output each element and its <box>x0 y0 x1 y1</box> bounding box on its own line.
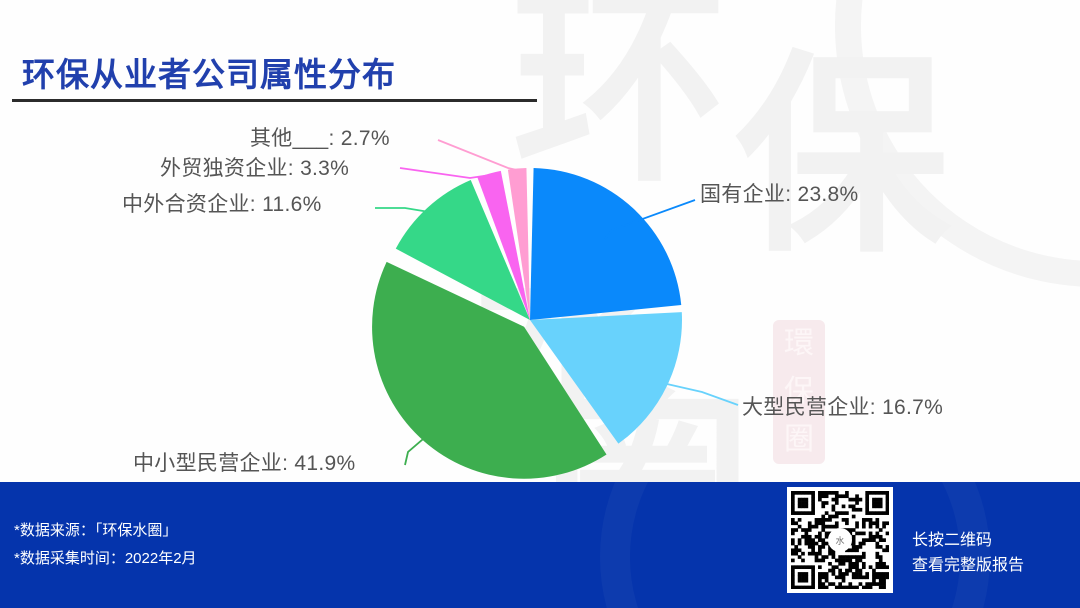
pie-label-foreign-funded: 外贸独资企业: 3.3% <box>160 152 349 182</box>
pie-slice-group[interactable] <box>372 168 682 479</box>
qr-code[interactable]: 水 <box>787 487 893 593</box>
title-underline-rule <box>12 99 537 102</box>
pie-slice[interactable] <box>530 168 681 320</box>
page-title: 环保从业者公司属性分布 <box>22 48 396 96</box>
pie-label-joint-venture: 中外合资企业: 11.6% <box>122 188 322 218</box>
qr-caption: 长按二维码 查看完整版报告 <box>912 528 1024 578</box>
pie-label-large-private: 大型民营企业: 16.7% <box>742 391 943 421</box>
footer-note-time: *数据采集时间：2022年2月 <box>14 545 197 573</box>
footer-notes: *数据来源：「环保水圈」 *数据采集时间：2022年2月 <box>14 517 197 573</box>
qr-caption-line-1: 长按二维码 <box>912 528 1024 553</box>
pie-leader-line <box>438 140 517 170</box>
pie-label-other: 其他___: 2.7% <box>250 122 390 152</box>
pie-label-sme-private: 中小型民营企业: 41.9% <box>133 447 355 477</box>
page-title-text: 环保从业者公司属性分布 <box>22 48 396 96</box>
pie-leader-line <box>400 168 489 178</box>
pie-leader-line <box>659 382 738 405</box>
footer-note-source: *数据来源：「环保水圈」 <box>14 517 197 545</box>
pie-label-state-owned: 国有企业: 23.8% <box>700 178 859 208</box>
qr-code-center-logo: 水 <box>828 528 852 552</box>
slide-canvas: 环 保 水 圈 環 保 圈 环保从业者公司属性分布 其他___: 2.7% 外贸… <box>0 0 1080 608</box>
qr-caption-line-2: 查看完整版报告 <box>912 553 1024 578</box>
pie-leader-line <box>375 208 432 212</box>
qr-code-image: 水 <box>791 491 889 589</box>
